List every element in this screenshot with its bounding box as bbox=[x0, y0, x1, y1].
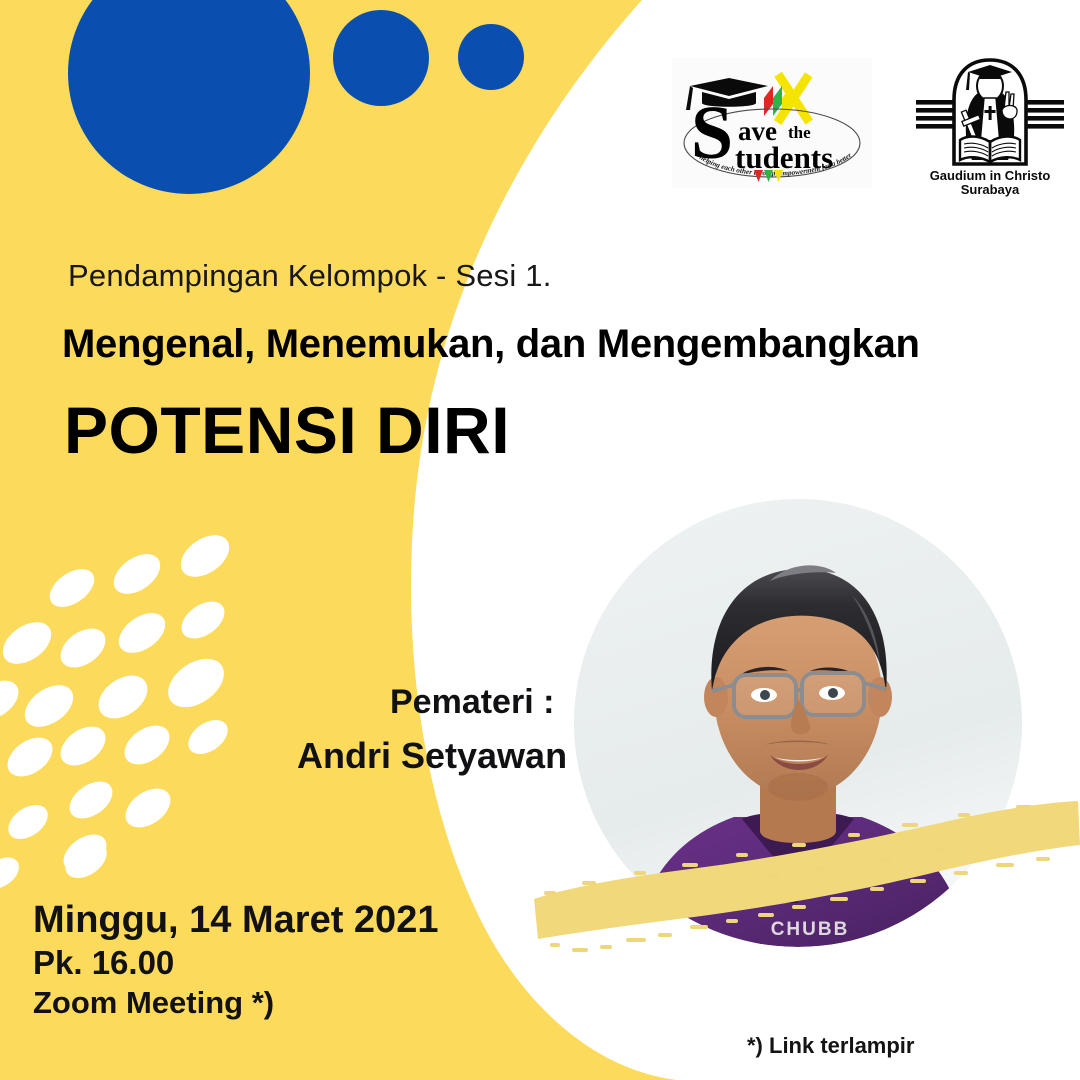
poster-canvas: S ave the tudents helping each other thr… bbox=[0, 0, 1080, 1080]
brush-body bbox=[530, 775, 1080, 965]
yellow-brush-stroke bbox=[530, 775, 1080, 965]
schedule-block: Minggu, 14 Maret 2021 Pk. 16.00 Zoom Mee… bbox=[33, 898, 438, 1024]
speaker-label: Pemateri : bbox=[390, 683, 554, 722]
footnote: *) Link terlampir bbox=[747, 1033, 914, 1059]
blue-circle-medium bbox=[333, 10, 429, 106]
sts-logo-art: S ave the tudents helping each other thr… bbox=[672, 58, 872, 188]
speaker-name: Andri Setyawan bbox=[297, 735, 567, 777]
chevron-group-bottom bbox=[754, 170, 783, 182]
session-subheading: Pendampingan Kelompok - Sesi 1. bbox=[68, 258, 552, 294]
logo-row: S ave the tudents helping each other thr… bbox=[672, 48, 1072, 198]
schedule-platform: Zoom Meeting *) bbox=[33, 983, 438, 1023]
gic-caption-line1: Gaudium in Christo bbox=[930, 168, 1051, 183]
schedule-time: Pk. 16.00 bbox=[33, 942, 438, 983]
gaudium-in-christo-logo: Gaudium in Christo Surabaya bbox=[906, 48, 1074, 198]
title-main: POTENSI DIRI bbox=[64, 392, 510, 468]
save-the-students-logo: S ave the tudents helping each other thr… bbox=[672, 58, 872, 188]
photo-ear-left bbox=[704, 677, 728, 717]
gic-logo-art: Gaudium in Christo Surabaya bbox=[906, 48, 1074, 198]
title-line: Mengenal, Menemukan, dan Mengembangkan bbox=[62, 322, 920, 367]
blue-circle-small bbox=[458, 24, 524, 90]
schedule-date: Minggu, 14 Maret 2021 bbox=[33, 898, 438, 942]
gic-caption-line2: Surabaya bbox=[961, 182, 1020, 197]
